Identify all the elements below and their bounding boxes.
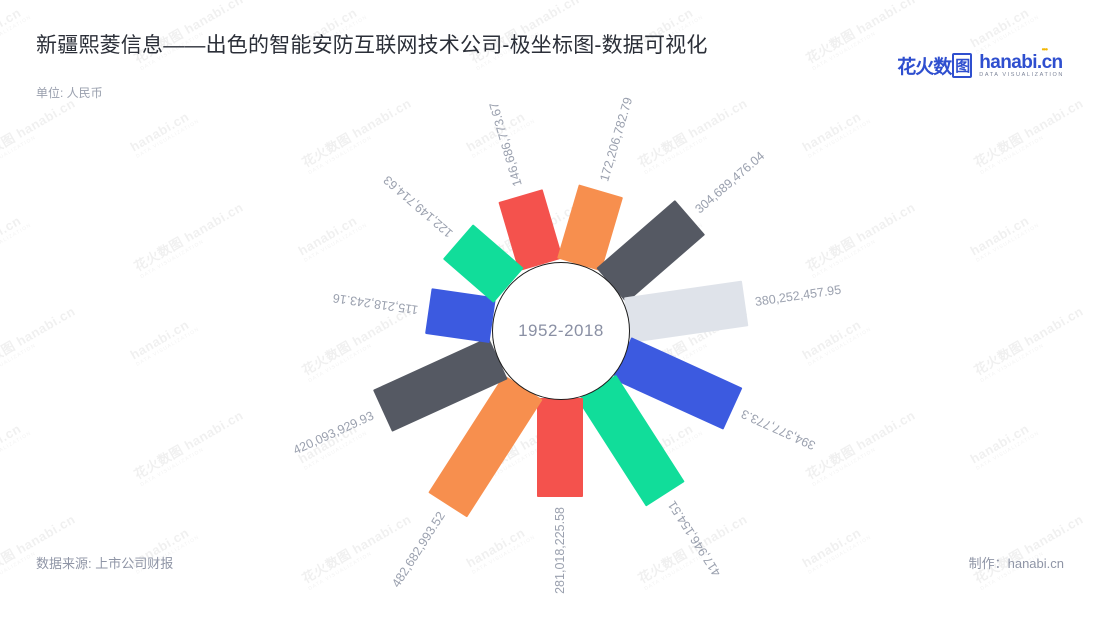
polar-bar-value-label: 482,682,993.52 [389, 510, 448, 591]
polar-bar-value-label: 380,252,457.95 [754, 283, 842, 309]
logo-en-name: ••• hanabi.cn [979, 53, 1064, 72]
data-source-note: 数据来源: 上市公司财报 [36, 553, 173, 572]
logo-cn-secondary: 数 [933, 52, 951, 79]
polar-bar-value-label: 304,689,476.04 [693, 149, 768, 216]
polar-bar-value-label: 281,018,225.58 [553, 507, 567, 594]
logo-english: ••• hanabi.cn DATA VISUALIZATION [979, 53, 1064, 79]
chart-header: 新疆熙菱信息——出色的智能安防互联网技术公司-极坐标图-数据可视化 单位: 人民… [36, 30, 796, 62]
polar-bar[interactable] [624, 281, 749, 344]
page-title: 新疆熙菱信息——出色的智能安防互联网技术公司-极坐标图-数据可视化 [36, 30, 796, 62]
polar-bar-value-label: 394,377,773.3 [739, 407, 818, 453]
center-range-label: 1952-2018 [518, 321, 604, 341]
chart-canvas: hanabi.cnDATA VISUALIZATION花火数图 hanabi.c… [0, 0, 1100, 620]
chart-subtitle: 单位: 人民币 [36, 84, 114, 102]
brand-logo: 花火 数 图 ••• hanabi.cn DATA VISUALIZATION [897, 52, 1064, 79]
logo-en-text: hanabi.cn [979, 52, 1062, 73]
logo-dots-icon: ••• [1042, 46, 1047, 54]
logo-tagline: DATA VISUALIZATION [979, 73, 1064, 79]
polar-chart: 1952-2018 146,686,773.67172,206,782.7930… [0, 0, 1100, 620]
polar-bar-value-label: 146,686,773.67 [486, 101, 524, 188]
logo-chinese: 花火 数 图 [897, 52, 972, 79]
polar-bar-value-label: 417,946,154.51 [665, 499, 724, 580]
logo-cn-boxed: 图 [952, 53, 972, 78]
chart-center-hub: 1952-2018 [492, 262, 630, 400]
credit-note: 制作：hanabi.cn [969, 553, 1064, 572]
polar-bar-value-label: 122,149,714.63 [380, 173, 455, 240]
polar-bar-value-label: 172,206,782.79 [597, 96, 635, 183]
polar-bar-value-label: 115,218,243.16 [332, 290, 419, 316]
polar-bar-value-label: 420,093,929.93 [291, 409, 376, 458]
polar-bar[interactable] [537, 398, 583, 497]
logo-cn-primary: 花火 [897, 52, 933, 79]
